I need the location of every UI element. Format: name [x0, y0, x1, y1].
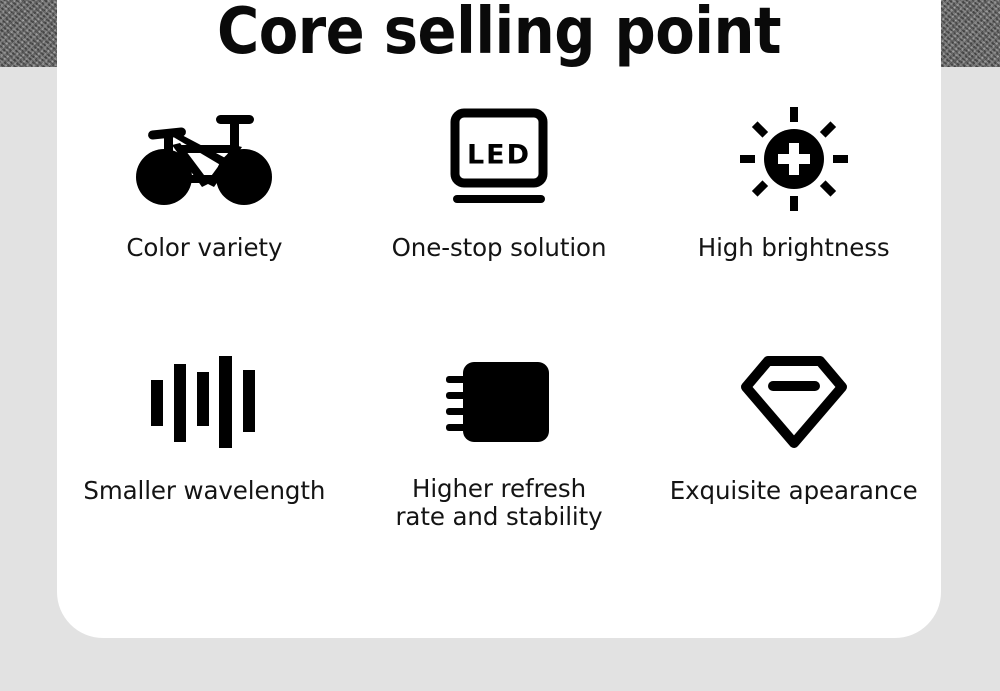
feature-row-2: Smaller wavelength — [57, 343, 941, 548]
chip-icon — [446, 343, 552, 461]
diamond-gem-icon — [740, 343, 848, 461]
bicycle-icon — [134, 100, 274, 218]
feature-item-high-brightness[interactable]: High brightness — [646, 100, 941, 305]
feature-item-color-variety[interactable]: Color variety — [57, 100, 352, 305]
feature-row-1: Color variety LED One-stop solution — [57, 100, 941, 305]
feature-label: Color variety — [126, 234, 282, 262]
feature-label: High brightness — [698, 234, 890, 262]
feature-grid: Color variety LED One-stop solution — [57, 100, 941, 548]
waveform-bars-icon — [151, 343, 257, 461]
led-icon-text: LED — [467, 140, 531, 171]
card-content: Core selling point — [57, 0, 941, 638]
brightness-sun-plus-icon — [738, 100, 850, 218]
feature-card: Core selling point — [57, 0, 941, 638]
feature-label: Higher refresh rate and stability — [395, 475, 602, 530]
feature-label: Smaller wavelength — [83, 477, 325, 505]
feature-item-one-stop-solution[interactable]: LED One-stop solution — [352, 100, 647, 305]
feature-item-higher-refresh-rate[interactable]: Higher refresh rate and stability — [352, 343, 647, 548]
page-title: Core selling point — [57, 0, 941, 72]
feature-item-smaller-wavelength[interactable]: Smaller wavelength — [57, 343, 352, 548]
feature-label: One-stop solution — [392, 234, 607, 262]
led-monitor-icon: LED — [443, 100, 555, 218]
feature-item-exquisite-apearance[interactable]: Exquisite apearance — [646, 343, 941, 548]
screenshot-root: Core selling point — [0, 0, 1000, 691]
feature-label: Exquisite apearance — [670, 477, 918, 505]
